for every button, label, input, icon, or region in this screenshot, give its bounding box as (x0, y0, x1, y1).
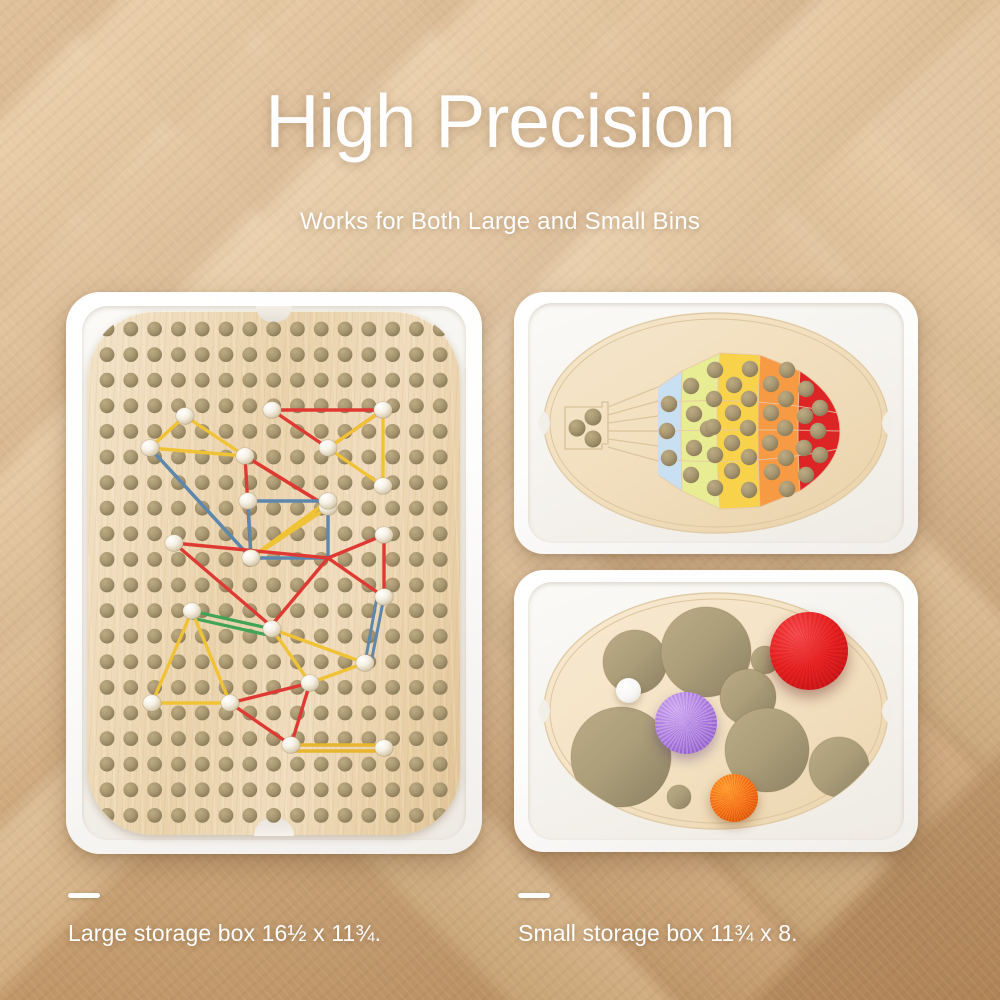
balloon-peg-hole (742, 361, 758, 377)
peg-hole (195, 731, 210, 746)
peg-hole (123, 680, 138, 695)
peg-hole (171, 373, 186, 388)
peg-hole (242, 398, 257, 413)
peg-hole (290, 603, 305, 618)
peg-hole (314, 654, 329, 669)
peg-hole (385, 782, 400, 797)
peg-hole (433, 450, 448, 465)
peg-hole (195, 322, 210, 337)
peg-hole (266, 808, 281, 823)
peg-hole (100, 629, 115, 644)
peg-hole (409, 475, 424, 490)
balloon-peg-hole (798, 381, 814, 397)
peg-hole (147, 782, 162, 797)
balloon-peg-hole (683, 467, 699, 483)
peg-hole (219, 808, 234, 823)
peg-hole (100, 552, 115, 567)
peg[interactable] (319, 440, 337, 457)
peg-hole (361, 552, 376, 567)
peg-hole (100, 322, 115, 337)
peg-hole (195, 373, 210, 388)
peg[interactable] (176, 408, 194, 425)
peg-hole (385, 501, 400, 516)
peg-hole (314, 603, 329, 618)
peg-hole (147, 808, 162, 823)
balloon-peg-hole (707, 480, 723, 496)
balloon-board-insert (528, 303, 904, 543)
peg-hole (195, 654, 210, 669)
peg[interactable] (374, 478, 392, 495)
peg-hole (433, 629, 448, 644)
peg-hole (123, 654, 138, 669)
peg-hole (338, 526, 353, 541)
peg-hole (433, 424, 448, 439)
peg-hole (242, 654, 257, 669)
peg-hole (242, 757, 257, 772)
balloon-peg-hole (812, 400, 828, 416)
peg-hole (385, 347, 400, 362)
balloon-peg-hole (778, 450, 794, 466)
peg-hole (266, 373, 281, 388)
peg-hole (219, 782, 234, 797)
peg-hole (100, 424, 115, 439)
peg-hole (433, 578, 448, 593)
peg-hole (385, 808, 400, 823)
balloon-peg-hole (661, 396, 677, 412)
sorting-hole (667, 785, 691, 809)
peg-hole (171, 552, 186, 567)
balloon-peg-hole (726, 377, 742, 393)
balloon-peg-hole (706, 391, 722, 407)
balloon-peg-hole (705, 419, 721, 435)
peg-hole (266, 322, 281, 337)
peg-hole (242, 578, 257, 593)
peg-hole (100, 757, 115, 772)
balloon-peg-hole (661, 450, 677, 466)
peg[interactable] (183, 603, 201, 620)
peg-hole (242, 808, 257, 823)
peg-hole (123, 808, 138, 823)
balloon-peg-hole (741, 482, 757, 498)
peg-hole (290, 450, 305, 465)
peg-hole (219, 450, 234, 465)
peg-hole (219, 373, 234, 388)
peg-hole (409, 808, 424, 823)
peg-hole (409, 578, 424, 593)
peg-hole (100, 731, 115, 746)
peg[interactable] (239, 493, 257, 510)
peg-hole (123, 731, 138, 746)
peg-hole (195, 808, 210, 823)
peg-hole (171, 501, 186, 516)
peg-hole (409, 731, 424, 746)
left-caption-dash (68, 893, 100, 898)
peg-hole (147, 731, 162, 746)
peg-hole (147, 552, 162, 567)
peg-hole (409, 322, 424, 337)
pompom-purple (655, 692, 717, 754)
peg-hole (171, 347, 186, 362)
peg-hole (219, 347, 234, 362)
peg-hole (338, 680, 353, 695)
peg-hole (433, 552, 448, 567)
balloon-peg-hole (740, 420, 756, 436)
peg-hole (147, 603, 162, 618)
peg-hole (195, 757, 210, 772)
peg-hole (219, 629, 234, 644)
peg-hole (100, 578, 115, 593)
peg-hole (147, 424, 162, 439)
peg-hole (123, 578, 138, 593)
balloon-peg-hole (707, 362, 723, 378)
peg-hole (314, 782, 329, 797)
peg-hole (147, 757, 162, 772)
peg-hole (338, 373, 353, 388)
peg-hole (123, 450, 138, 465)
peg[interactable] (375, 527, 393, 544)
peg-hole (385, 373, 400, 388)
peg-hole (314, 424, 329, 439)
peg-hole (338, 757, 353, 772)
pompom-white (616, 678, 641, 703)
caption-large-box: Large storage box 16½ x 11¾. (68, 920, 381, 947)
peg-hole (242, 347, 257, 362)
peg-hole (409, 654, 424, 669)
balloon-peg-hole (683, 378, 699, 394)
peg-hole (171, 578, 186, 593)
peg-hole (195, 782, 210, 797)
peg-hole (433, 526, 448, 541)
peg-hole (123, 347, 138, 362)
product-marketing-image: High Precision Works for Both Large and … (0, 0, 1000, 1000)
peg-hole (219, 398, 234, 413)
peg-hole (290, 782, 305, 797)
peg-hole (338, 347, 353, 362)
peg-hole (290, 373, 305, 388)
peg-hole (195, 578, 210, 593)
peg-hole (147, 475, 162, 490)
peg-hole (409, 603, 424, 618)
peg-hole (147, 578, 162, 593)
balloon-peg-hole (686, 406, 702, 422)
peg-hole (123, 398, 138, 413)
peg-hole (409, 552, 424, 567)
peg-hole (338, 475, 353, 490)
peg-hole (385, 450, 400, 465)
peg[interactable] (143, 695, 161, 712)
peg-hole (338, 808, 353, 823)
peg-hole (242, 322, 257, 337)
peg-hole (242, 373, 257, 388)
peg-hole (409, 526, 424, 541)
peg-hole (385, 552, 400, 567)
peg-hole (361, 450, 376, 465)
balloon-peg-hole (777, 420, 793, 436)
peg-hole (290, 501, 305, 516)
peg-hole (361, 501, 376, 516)
peg[interactable] (374, 402, 392, 419)
peg[interactable] (375, 740, 393, 757)
peg-hole (409, 424, 424, 439)
peg-hole (100, 347, 115, 362)
caption-small-box: Small storage box 11¾ x 8. (518, 920, 798, 947)
peg-hole (361, 706, 376, 721)
peg-hole (219, 552, 234, 567)
page-subtitle: Works for Both Large and Small Bins (0, 208, 1000, 236)
peg-hole (219, 322, 234, 337)
peg-hole (266, 347, 281, 362)
peg-hole (409, 501, 424, 516)
peg-hole (385, 706, 400, 721)
peg-hole (385, 629, 400, 644)
peg-hole (266, 450, 281, 465)
peg[interactable] (282, 737, 300, 754)
peg[interactable] (141, 440, 159, 457)
peg[interactable] (165, 535, 183, 552)
peg-hole (361, 680, 376, 695)
peg-hole (242, 424, 257, 439)
peg-hole (100, 501, 115, 516)
balloon-peg-hole (741, 391, 757, 407)
peg-hole (195, 706, 210, 721)
peg-hole (314, 808, 329, 823)
peg-hole (266, 578, 281, 593)
page-title: High Precision (0, 78, 1000, 164)
peg-hole (385, 603, 400, 618)
peg-hole (123, 706, 138, 721)
peg-hole (100, 654, 115, 669)
peg-hole (100, 526, 115, 541)
peg-hole (266, 706, 281, 721)
balloon-peg-hole (764, 464, 780, 480)
balloon-peg-hole (659, 423, 675, 439)
peg-hole (123, 373, 138, 388)
balloon-peg-hole (741, 449, 757, 465)
balloon-peg-hole (686, 440, 702, 456)
peg[interactable] (263, 402, 281, 419)
peg-hole (385, 757, 400, 772)
peg-hole (290, 808, 305, 823)
peg-hole (100, 450, 115, 465)
peg-hole (100, 680, 115, 695)
peg-hole (123, 424, 138, 439)
balloon-peg-hole (810, 423, 826, 439)
peg-hole (100, 782, 115, 797)
peg-hole (361, 808, 376, 823)
peg-hole (385, 654, 400, 669)
peg-hole (433, 680, 448, 695)
sorting-hole (809, 737, 869, 797)
peg-hole (123, 782, 138, 797)
peg-hole (219, 603, 234, 618)
balloon-peg-hole (724, 435, 740, 451)
peg-hole (195, 680, 210, 695)
peg-hole (433, 373, 448, 388)
right-caption-dash (518, 893, 550, 898)
peg-hole (338, 706, 353, 721)
peg-hole (385, 680, 400, 695)
peg-hole (100, 398, 115, 413)
peg-hole (338, 322, 353, 337)
peg-hole (338, 782, 353, 797)
peg-hole (314, 373, 329, 388)
peg-hole (123, 603, 138, 618)
peg-hole (242, 782, 257, 797)
peg-hole (338, 629, 353, 644)
peg-hole (290, 322, 305, 337)
peg-hole (147, 322, 162, 337)
peg-hole (409, 398, 424, 413)
peg-hole (409, 373, 424, 388)
peg-hole (171, 322, 186, 337)
balloon-peg-hole (796, 440, 812, 456)
peg-hole (219, 757, 234, 772)
peg-hole (385, 424, 400, 439)
peg-hole (100, 706, 115, 721)
peg[interactable] (301, 675, 319, 692)
peg-hole (433, 322, 448, 337)
peg-hole (314, 757, 329, 772)
balloon-peg-hole (779, 481, 795, 497)
peg-hole (361, 322, 376, 337)
peg[interactable] (221, 695, 239, 712)
peg-hole (147, 347, 162, 362)
peg-hole (219, 501, 234, 516)
peg-hole (195, 398, 210, 413)
peg-hole (123, 629, 138, 644)
peg-hole (147, 526, 162, 541)
peg-hole (290, 757, 305, 772)
balloon-peg-hole (763, 376, 779, 392)
peg-hole (361, 347, 376, 362)
peg-hole (123, 552, 138, 567)
balloon-peg-hole (724, 463, 740, 479)
peg-hole (361, 782, 376, 797)
peg-hole (242, 731, 257, 746)
peg-hole (123, 757, 138, 772)
pompom-orange (710, 774, 758, 822)
peg-hole (314, 629, 329, 644)
peg-hole (123, 322, 138, 337)
peg-hole (147, 373, 162, 388)
peg-hole (147, 629, 162, 644)
peg-hole (171, 782, 186, 797)
peg-hole (433, 808, 448, 823)
peg-hole (100, 475, 115, 490)
pegboard-grid (88, 311, 460, 835)
peg-hole (171, 680, 186, 695)
peg-hole (100, 603, 115, 618)
balloon-peg-hole (707, 447, 723, 463)
peg-hole (409, 450, 424, 465)
peg-hole (147, 501, 162, 516)
pompom-red (770, 612, 848, 690)
balloon-peg-hole (797, 408, 813, 424)
peg-hole (219, 424, 234, 439)
peg[interactable] (242, 550, 260, 567)
peg-hole (433, 501, 448, 516)
peg-hole (433, 398, 448, 413)
peg[interactable] (263, 621, 281, 638)
peg-hole (338, 578, 353, 593)
peg-hole (409, 706, 424, 721)
peg-hole (195, 526, 210, 541)
peg-hole (433, 757, 448, 772)
peg-hole (171, 731, 186, 746)
peg-hole (266, 501, 281, 516)
peg-hole (266, 757, 281, 772)
peg[interactable] (236, 448, 254, 465)
peg[interactable] (375, 589, 393, 606)
peg-hole (123, 501, 138, 516)
balloon-peg-hole (798, 467, 814, 483)
peg-hole (100, 808, 115, 823)
peg-hole (290, 347, 305, 362)
balloon-peg-hole (763, 405, 779, 421)
peg-hole (385, 322, 400, 337)
peg-hole (409, 757, 424, 772)
peg-hole (409, 347, 424, 362)
peg-hole (361, 424, 376, 439)
peg-hole (361, 757, 376, 772)
peg[interactable] (319, 493, 337, 510)
peg-hole (314, 347, 329, 362)
peg-hole (409, 782, 424, 797)
peg-hole (100, 373, 115, 388)
peg-hole (195, 347, 210, 362)
peg-hole (314, 322, 329, 337)
peg-hole (242, 680, 257, 695)
peg-hole (433, 706, 448, 721)
peg-hole (409, 629, 424, 644)
peg-hole (171, 757, 186, 772)
balloon-peg-hole (778, 391, 794, 407)
peg-hole (433, 347, 448, 362)
peg-hole (171, 808, 186, 823)
peg-hole (123, 475, 138, 490)
peg-hole (123, 526, 138, 541)
peg-hole (338, 501, 353, 516)
peg-hole (171, 706, 186, 721)
peg-hole (338, 603, 353, 618)
peg-hole (195, 475, 210, 490)
peg-hole (433, 731, 448, 746)
peg-hole (219, 654, 234, 669)
peg-hole (219, 731, 234, 746)
balloon-peg-hole (762, 435, 778, 451)
peg-hole (266, 424, 281, 439)
balloon-peg-hole (779, 362, 795, 378)
balloon-peg-hole (725, 405, 741, 421)
peg-hole (219, 475, 234, 490)
peg-hole (147, 398, 162, 413)
peg-hole (314, 706, 329, 721)
peg-hole (433, 654, 448, 669)
peg-hole (433, 603, 448, 618)
peg[interactable] (356, 655, 374, 672)
balloon-peg-hole (812, 447, 828, 463)
peg-hole (361, 373, 376, 388)
peg-hole (433, 782, 448, 797)
peg-hole (147, 654, 162, 669)
peg-hole (314, 578, 329, 593)
peg-hole (314, 475, 329, 490)
peg-hole (409, 680, 424, 695)
peg-hole (266, 654, 281, 669)
peg-hole (266, 782, 281, 797)
peg-hole (433, 475, 448, 490)
